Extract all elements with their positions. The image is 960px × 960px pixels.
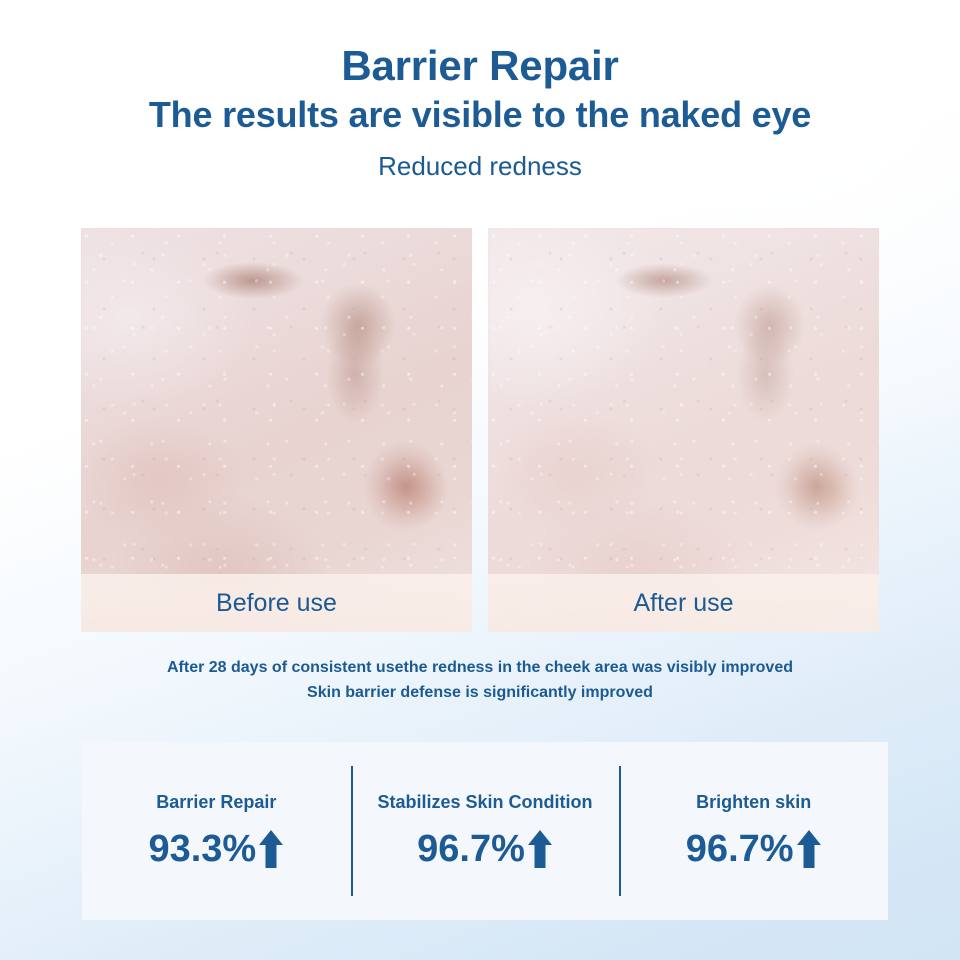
- arrow-up-icon: [258, 829, 284, 869]
- results-line-1: After 28 days of consistent usethe redne…: [0, 656, 960, 681]
- stat-column-brighten-skin: Brighten skin 96.7%: [619, 742, 888, 920]
- stat-label: Brighten skin: [696, 793, 811, 811]
- promo-poster: Barrier Repair The results are visible t…: [0, 0, 960, 960]
- stats-panel: Barrier Repair 93.3% Stabilizes Skin Con…: [82, 742, 888, 920]
- results-description: After 28 days of consistent usethe redne…: [0, 656, 960, 706]
- page-subtitle: The results are visible to the naked eye: [0, 95, 960, 135]
- stat-value: 93.3%: [148, 830, 256, 868]
- before-caption-label: Before use: [216, 591, 337, 616]
- after-photo: After use: [488, 228, 879, 632]
- arrow-up-icon: [796, 829, 822, 869]
- after-skin-speckle: [488, 228, 879, 632]
- stat-value: 96.7%: [417, 830, 525, 868]
- before-caption-band: Before use: [81, 574, 472, 632]
- after-caption-label: After use: [633, 591, 733, 616]
- stat-value-row: 96.7%: [417, 829, 553, 869]
- stat-label: Stabilizes Skin Condition: [378, 793, 593, 811]
- stat-value-row: 96.7%: [686, 829, 822, 869]
- before-photo: Before use: [81, 228, 472, 632]
- header-block: Barrier Repair The results are visible t…: [0, 44, 960, 182]
- page-title: Barrier Repair: [0, 44, 960, 89]
- stat-value-row: 93.3%: [148, 829, 284, 869]
- stat-column-stabilizes-skin-condition: Stabilizes Skin Condition 96.7%: [351, 742, 620, 920]
- arrow-up-icon: [527, 829, 553, 869]
- before-after-comparison: Before use After use: [81, 228, 879, 632]
- after-caption-band: After use: [488, 574, 879, 632]
- page-tagline: Reduced redness: [0, 151, 960, 182]
- results-line-2: Skin barrier defense is significantly im…: [0, 681, 960, 706]
- stat-column-barrier-repair: Barrier Repair 93.3%: [82, 742, 351, 920]
- before-skin-speckle: [81, 228, 472, 632]
- stat-value: 96.7%: [686, 830, 794, 868]
- stat-label: Barrier Repair: [156, 793, 276, 811]
